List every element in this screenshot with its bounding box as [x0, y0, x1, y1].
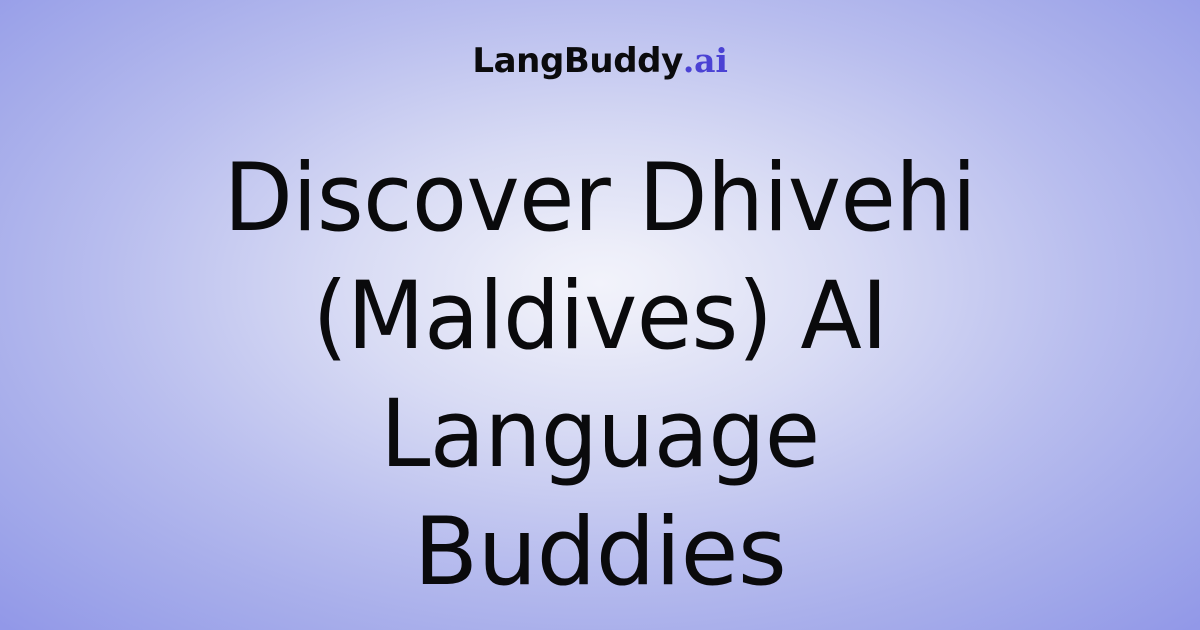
headline-container: Discover Dhivehi (Maldives) AI Language …	[95, 140, 1105, 612]
og-image-card: LangBuddy.ai Discover Dhivehi (Maldives)…	[0, 0, 1200, 630]
headline-line-1: Discover Dhivehi	[118, 140, 1083, 258]
brand-tld: .ai	[683, 41, 728, 80]
brand-logo[interactable]: LangBuddy.ai	[0, 44, 1200, 78]
headline-line-3: Buddies	[95, 494, 1105, 612]
brand-name: LangBuddy	[472, 41, 683, 81]
headline-line-2: (Maldives) AI Language	[118, 258, 1083, 494]
page-title: Discover Dhivehi (Maldives) AI Language …	[95, 140, 1105, 612]
